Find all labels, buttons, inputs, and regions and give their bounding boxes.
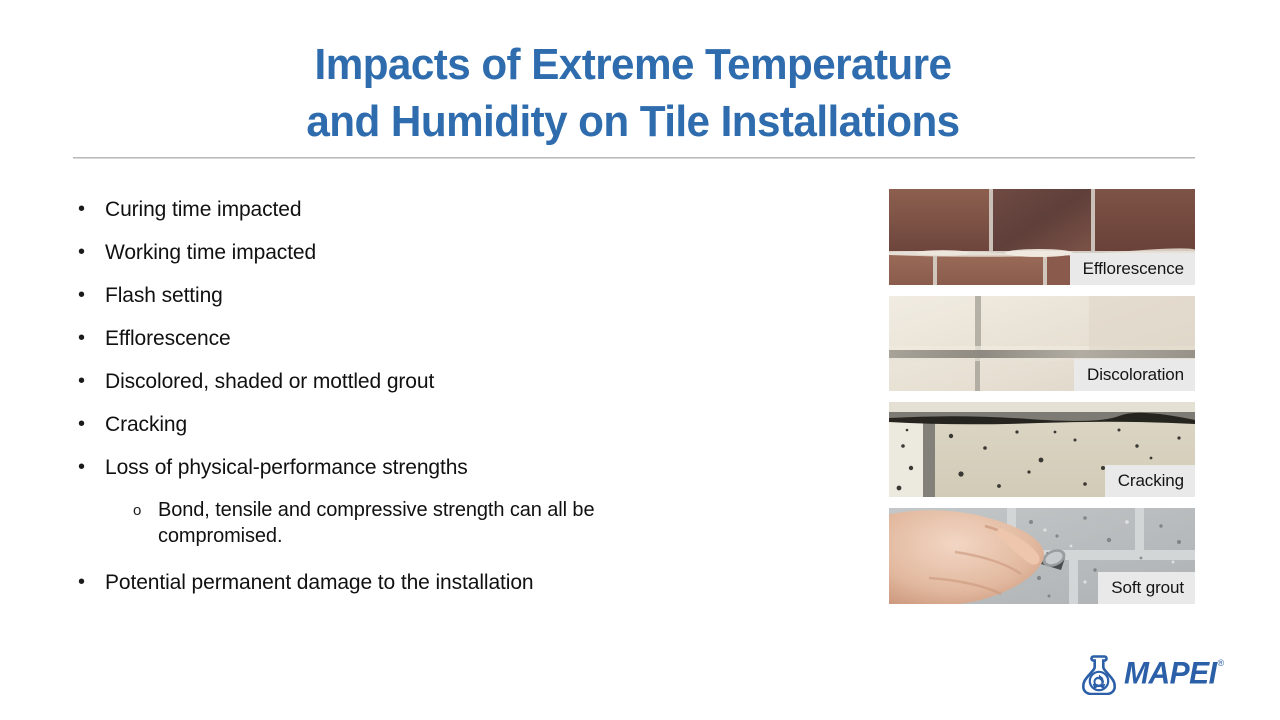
bullet-marker-icon: • <box>78 239 105 266</box>
list-item: • Potential permanent damage to the inst… <box>70 569 830 596</box>
panel-label: Cracking <box>1105 465 1195 497</box>
bullet-marker-icon: • <box>78 411 105 438</box>
list-item-label: Loss of physical-performance strengths <box>105 454 468 481</box>
list-item-label: Potential permanent damage to the instal… <box>105 569 534 596</box>
sub-list-item: o Bond, tensile and compressive strength… <box>70 497 830 549</box>
mapei-flask-icon <box>1079 653 1119 695</box>
panel-label: Efflorescence <box>1070 253 1195 285</box>
page-title: Impacts of Extreme Temperature and Humid… <box>70 36 1196 150</box>
image-panel-column: Efflorescence <box>889 189 1195 615</box>
bullet-marker-icon: • <box>78 196 105 223</box>
bullet-marker-icon: • <box>78 325 105 352</box>
bullet-marker-icon: • <box>78 368 105 395</box>
registered-trademark-icon: ® <box>1218 659 1225 668</box>
title-divider <box>73 157 1195 159</box>
image-panel-cracking: Cracking <box>889 402 1195 497</box>
list-item: • Curing time impacted <box>70 196 830 223</box>
list-item-label: Working time impacted <box>105 239 316 266</box>
title-line-2: and Humidity on Tile Installations <box>93 93 1174 150</box>
list-item-label: Discolored, shaded or mottled grout <box>105 368 434 395</box>
list-item: • Cracking <box>70 411 830 438</box>
slide-canvas: Impacts of Extreme Temperature and Humid… <box>0 0 1280 720</box>
list-item-label: Curing time impacted <box>105 196 301 223</box>
list-item: • Working time impacted <box>70 239 830 266</box>
list-item-label: Cracking <box>105 411 187 438</box>
image-panel-efflorescence: Efflorescence <box>889 189 1195 285</box>
list-item: • Efflorescence <box>70 325 830 352</box>
image-panel-discoloration: Discoloration <box>889 296 1195 391</box>
sub-bullet-marker-icon: o <box>133 497 158 524</box>
list-item: • Discolored, shaded or mottled grout <box>70 368 830 395</box>
list-item-label: Flash setting <box>105 282 223 309</box>
bullet-marker-icon: • <box>78 282 105 309</box>
bullet-marker-icon: • <box>78 569 105 596</box>
panel-label: Discoloration <box>1074 359 1195 391</box>
bullet-list: • Curing time impacted • Working time im… <box>70 196 830 612</box>
image-panel-soft-grout: Soft grout <box>889 508 1195 604</box>
panel-label: Soft grout <box>1098 572 1195 604</box>
list-item-label: Efflorescence <box>105 325 231 352</box>
mapei-wordmark: MAPEI <box>1124 658 1217 690</box>
mapei-logo: MAPEI ® <box>1079 650 1201 698</box>
bullet-marker-icon: • <box>78 454 105 481</box>
title-line-1: Impacts of Extreme Temperature <box>93 36 1174 93</box>
list-item: • Loss of physical-performance strengths <box>70 454 830 481</box>
sub-list-item-label: Bond, tensile and compressive strength c… <box>158 497 628 549</box>
list-item: • Flash setting <box>70 282 830 309</box>
